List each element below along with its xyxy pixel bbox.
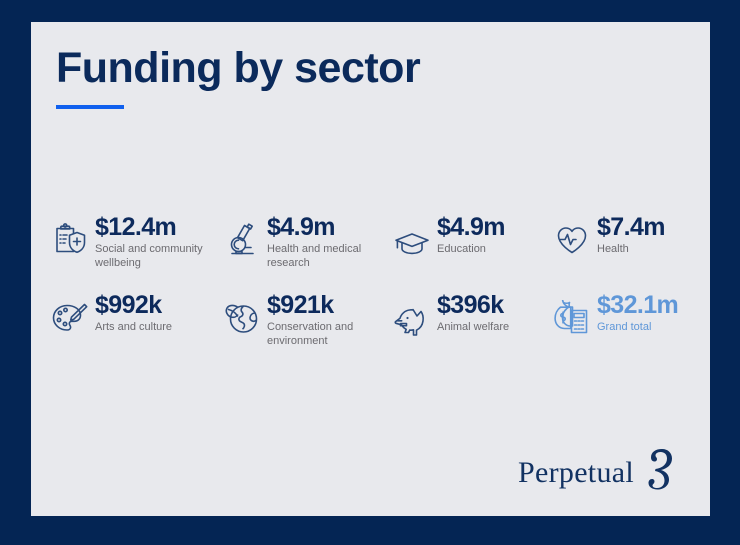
stat-text: $4.9m Education [437, 212, 505, 257]
stat-label: Conservation and environment [267, 321, 385, 349]
paint-palette-icon [49, 296, 91, 340]
dog-head-icon [391, 300, 433, 344]
stat-text: $7.4m Health [597, 212, 665, 257]
stat-item-animal-welfare: $396k Animal welfare [385, 290, 545, 349]
stat-label: Health [597, 243, 665, 257]
stat-item-health-medical-research: $4.9m Health and medical research [215, 212, 385, 290]
globe-leaf-icon [221, 296, 263, 340]
title-block: Funding by sector [56, 46, 420, 109]
stat-value: $396k [437, 291, 504, 319]
stat-text: $396k Animal welfare [437, 290, 509, 335]
stat-value: $921k [267, 291, 334, 319]
money-bag-calculator-icon [551, 296, 593, 340]
stat-item-education: $4.9m Education [385, 212, 545, 290]
stat-label: Animal welfare [437, 321, 509, 335]
stat-label: Grand total [597, 321, 678, 335]
stat-item-health: $7.4m Health [545, 212, 703, 290]
stat-text: $992k Arts and culture [95, 290, 172, 335]
stat-text: $32.1m Grand total [597, 290, 678, 335]
stat-label: Education [437, 243, 505, 257]
stat-value: $992k [95, 291, 162, 319]
title-accent-rule [56, 105, 124, 109]
stat-item-conservation-environment: $921k Conservation and environment [215, 290, 385, 349]
perpetual-logo: Perpetual [518, 443, 678, 488]
microscope-icon [221, 218, 263, 262]
stat-value: $32.1m [597, 291, 678, 319]
page-title: Funding by sector [56, 46, 420, 91]
stat-label: Arts and culture [95, 321, 172, 335]
stat-label: Health and medical research [267, 243, 385, 271]
heart-pulse-icon [551, 218, 593, 262]
clipboard-shield-icon [49, 218, 91, 262]
stat-text: $12.4m Social and community wellbeing [95, 212, 215, 271]
stat-item-grand-total: $32.1m Grand total [545, 290, 703, 349]
stat-text: $921k Conservation and environment [267, 290, 385, 349]
stats-grid: $12.4m Social and community wellbeing [43, 212, 703, 349]
logo-script-p-mark [632, 443, 678, 500]
stat-value: $7.4m [597, 213, 665, 241]
stat-item-arts-culture: $992k Arts and culture [43, 290, 215, 349]
stat-label: Social and community wellbeing [95, 243, 215, 271]
logo-wordmark: Perpetual [518, 458, 634, 488]
stat-item-social-community-wellbeing: $12.4m Social and community wellbeing [43, 212, 215, 290]
graduation-cap-icon [391, 222, 433, 266]
content-card: Funding by sector [31, 22, 710, 516]
stat-value: $12.4m [95, 213, 176, 241]
stat-value: $4.9m [267, 213, 335, 241]
stat-text: $4.9m Health and medical research [267, 212, 385, 271]
stat-value: $4.9m [437, 213, 505, 241]
slide-canvas: Funding by sector [0, 0, 740, 545]
